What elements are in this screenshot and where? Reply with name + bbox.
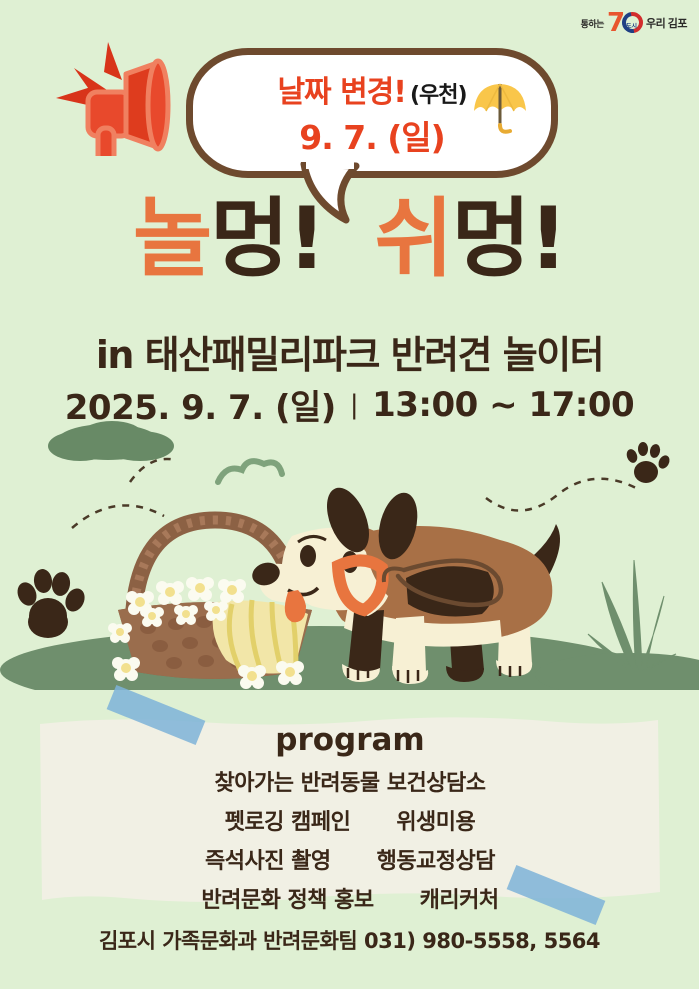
umbrella-icon xyxy=(471,81,529,137)
program-item-instant-photo: 즉석사진 촬영 xyxy=(205,843,331,875)
program-item-grooming: 위생미용 xyxy=(396,804,475,836)
program-item-health-clinic: 찾아가는 반려동물 보건상담소 xyxy=(215,765,486,797)
paw-print-icon xyxy=(625,442,672,483)
program-row-3: 즉석사진 촬영 행동교정상담 xyxy=(205,843,495,875)
cloud-shape xyxy=(48,421,174,461)
date-change-notice-bubble: 날짜 변경! (우천) 9. 7. (일) xyxy=(186,48,558,178)
illustration-scene xyxy=(0,420,699,690)
program-card: program 찾아가는 반려동물 보건상담소 펫로깅 캠페인 위생미용 즉석사… xyxy=(38,712,662,907)
title-part-swi: 쉬 xyxy=(374,189,451,289)
program-row-2: 펫로깅 캠페인 위생미용 xyxy=(225,804,476,836)
title-part-nol: 놀 xyxy=(133,189,210,289)
flower-picnic-basket-illustration xyxy=(108,520,312,689)
dashed-path-left xyxy=(72,505,164,528)
speech-bubble-tail xyxy=(300,162,370,224)
gimpo-70th-anniversary-logo: 통하는 7 도시 우리 김포 xyxy=(581,10,687,36)
megaphone-icon xyxy=(52,36,192,156)
event-poster: 통하는 7 도시 우리 김포 날짜 변경! (우천) xyxy=(0,0,699,989)
logo-prefix-text: 통하는 xyxy=(581,17,604,30)
cloud-outline xyxy=(218,461,282,482)
venue-subtitle: in 태산패밀리파크 반려견 놀이터 xyxy=(0,324,699,379)
rain-reason-label: (우천) xyxy=(410,77,467,109)
contact-footer: 김포시 가족문화과 반려문화팀 031) 980-5558, 5564 xyxy=(0,925,699,955)
program-row-4: 반려문화 정책 홍보 캐리커처 xyxy=(201,882,498,914)
title-part-meong2: 멍! xyxy=(452,189,566,289)
datetime-separator: | xyxy=(350,390,358,420)
program-item-petlogging: 펫로깅 캠페인 xyxy=(225,804,351,836)
date-change-label: 날짜 변경! xyxy=(277,67,406,111)
logo-inner-text: 도시 xyxy=(626,21,637,30)
dashed-path-right xyxy=(486,479,636,511)
program-heading: program xyxy=(275,722,424,758)
new-date-label: 9. 7. (일) xyxy=(299,111,445,159)
event-time: 13:00 ~ 17:00 xyxy=(372,385,634,425)
program-item-caricature: 캐리커처 xyxy=(420,882,499,914)
program-row-1: 찾아가는 반려동물 보건상담소 xyxy=(215,765,486,797)
notice-line-1: 날짜 변경! (우천) xyxy=(277,67,466,111)
logo-suffix-text: 우리 김포 xyxy=(646,15,687,31)
paw-print-icon xyxy=(14,568,88,638)
program-item-behavior-counseling: 행동교정상담 xyxy=(377,843,495,875)
logo-70-mark: 7 도시 xyxy=(607,10,643,36)
dashed-path-left2 xyxy=(130,459,176,482)
program-item-policy-promo: 반려문화 정책 홍보 xyxy=(201,882,373,914)
